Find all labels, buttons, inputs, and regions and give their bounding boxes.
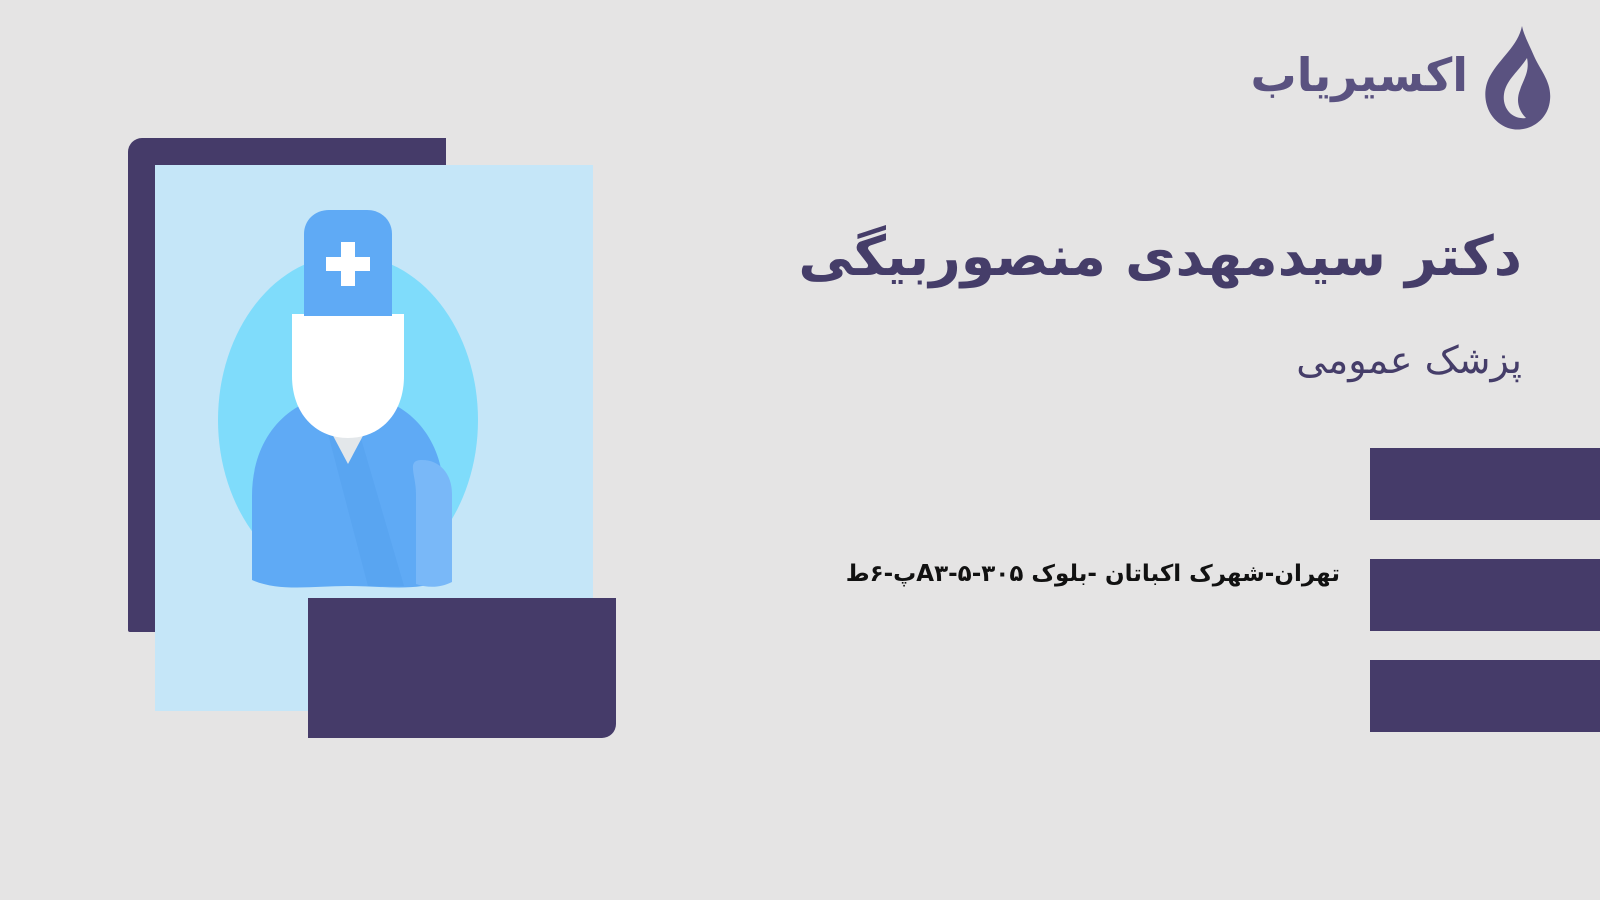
doctor-avatar-icon (208, 198, 488, 618)
doctor-illustration (128, 138, 628, 743)
frame-accent-front (308, 598, 616, 738)
doctor-name: دکتر سیدمهدی منصوربیگی (622, 224, 1522, 289)
decorative-bar-1 (1370, 448, 1600, 520)
doctor-specialty: پزشک عمومی (622, 336, 1522, 385)
brand-logo[interactable]: اکسیریاب (1251, 24, 1557, 132)
brand-name-text: اکسیریاب (1251, 52, 1469, 104)
business-card-canvas: اکسیریاب دکتر سیدمهدی منصوربیگی پ (0, 0, 1600, 900)
flame-droplet-icon (1478, 24, 1556, 132)
doctor-address: تهران-شهرک اکباتان -بلوک A۳-۵-۳۰۵پ-۶ط (640, 558, 1340, 590)
decorative-bar-3 (1370, 660, 1600, 732)
decorative-bar-2 (1370, 559, 1600, 631)
